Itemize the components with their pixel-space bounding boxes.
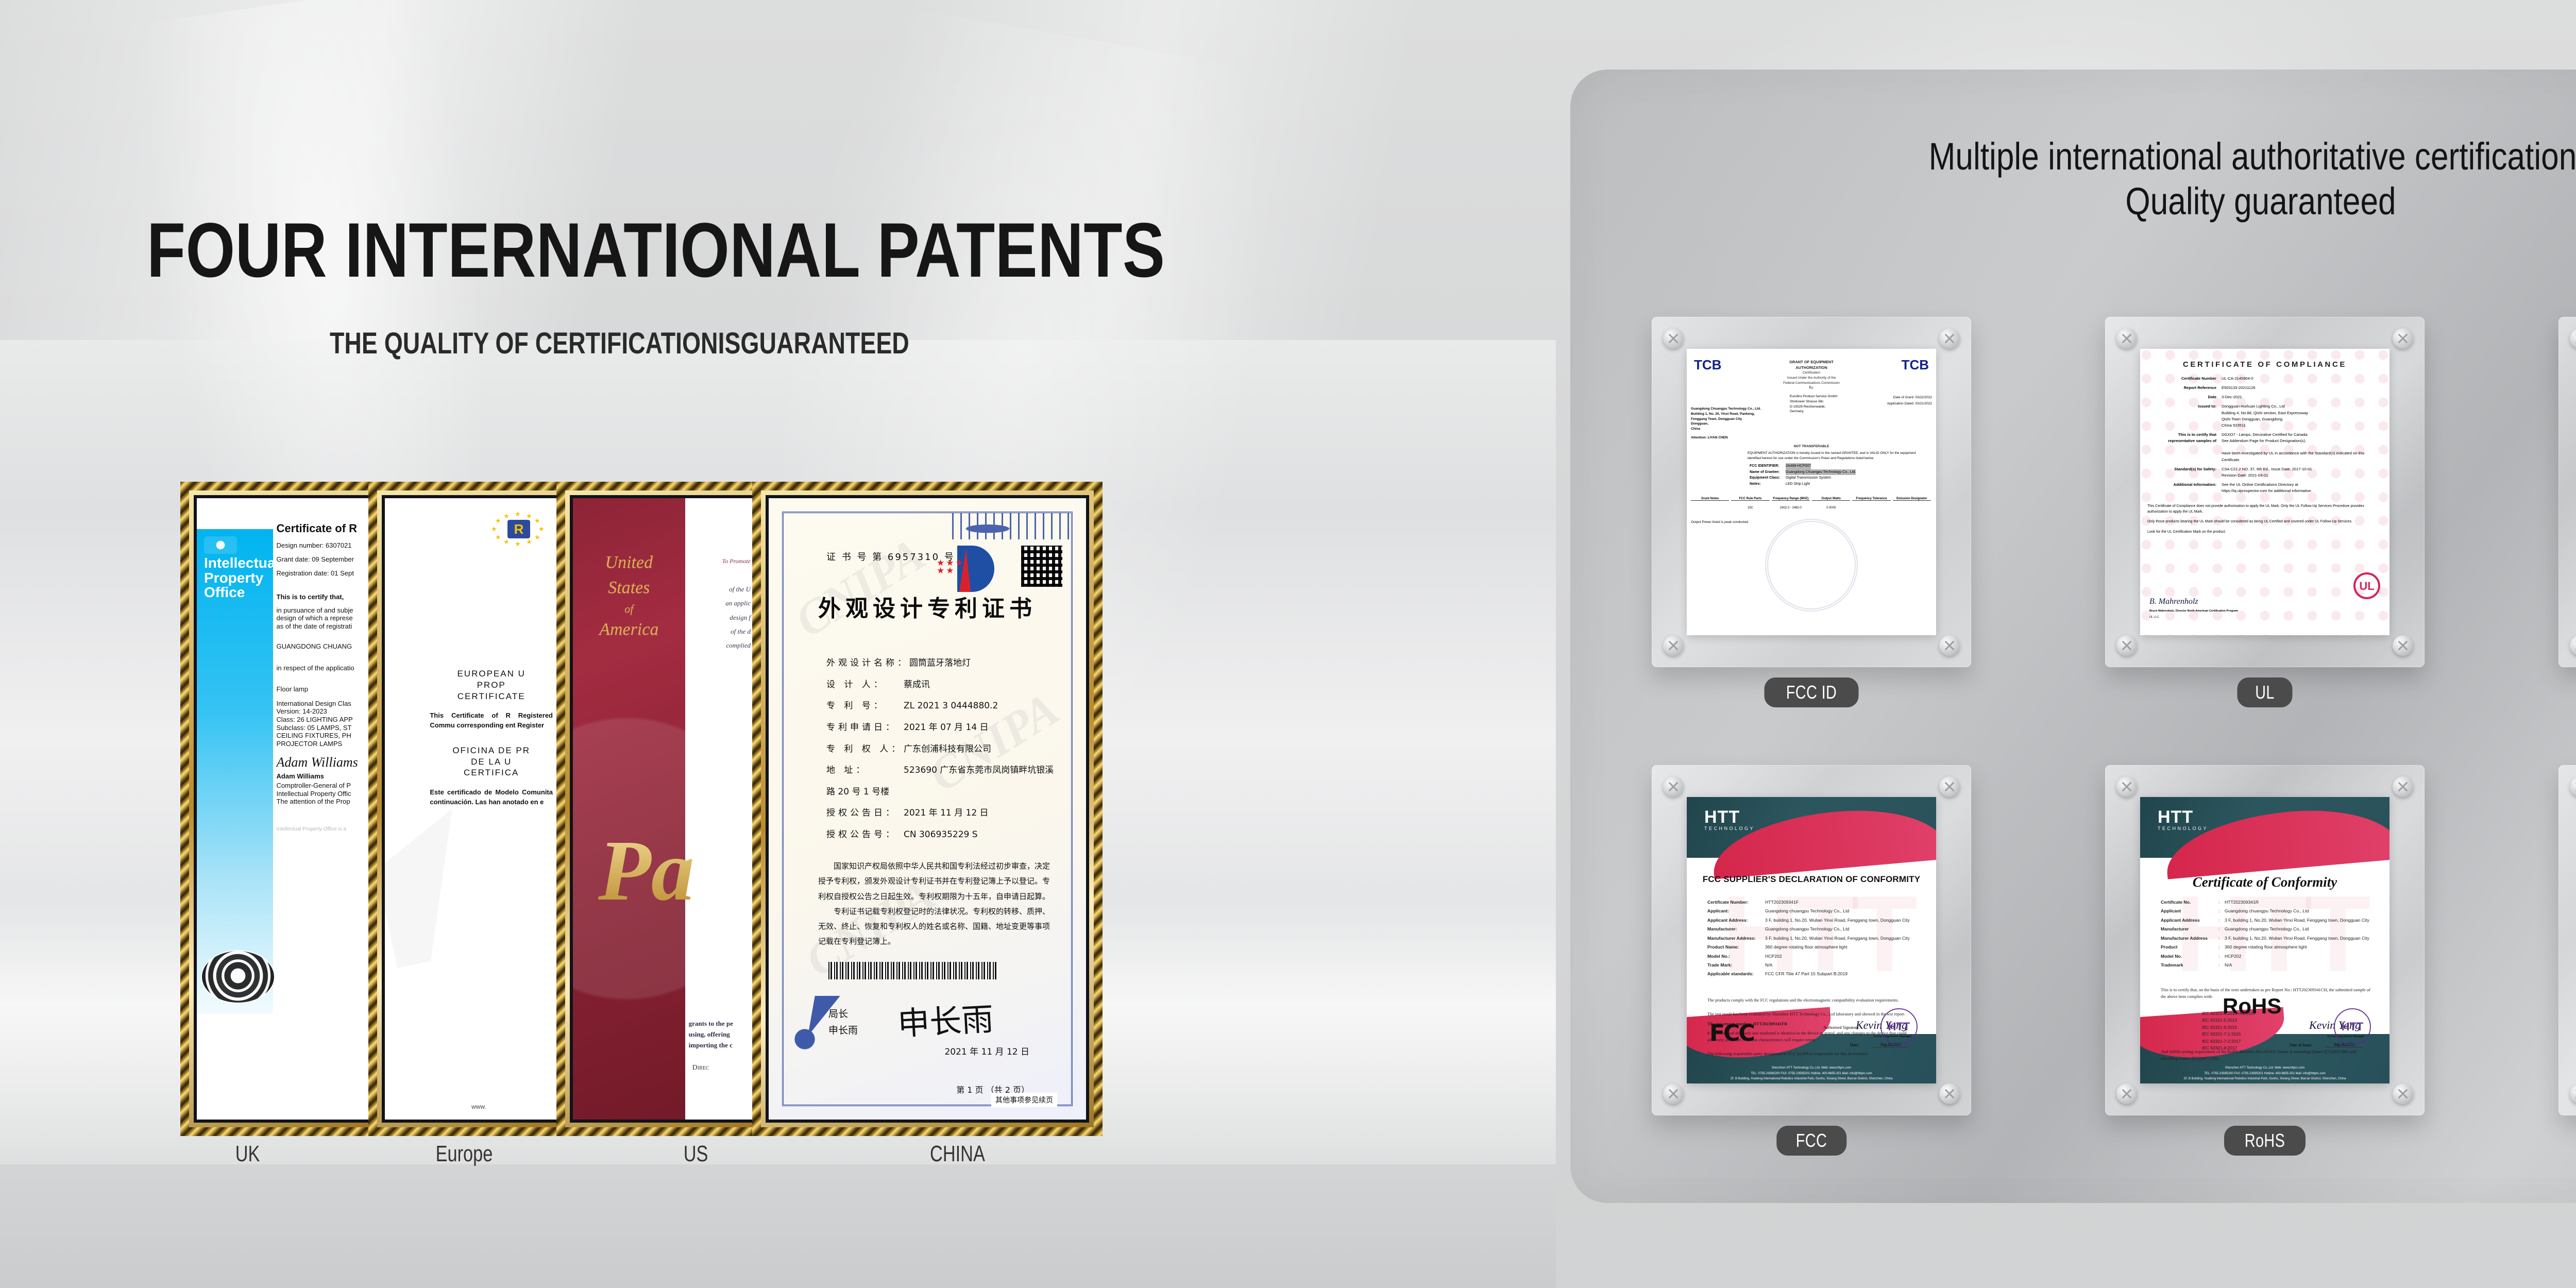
htt-cert-title: FCC SUPPLIER'S DECLARATION OF CONFORMITY: [1687, 874, 1936, 885]
htt-row-value: 360 degree rotating floor atmosphere lig…: [1765, 944, 1848, 951]
ul-row-value: Dongguan Huihuan Lighting Co., Ltd Build…: [2222, 403, 2308, 429]
htt-row: Trade Mark:N/A: [1707, 962, 1921, 969]
htt-row-value: 360 degree rotating floor atmosphere lig…: [2225, 944, 2307, 951]
uk-proprietor: GUANGDONG CHUANG: [277, 641, 366, 652]
us-body-text: of the U an applic design f of the d com…: [689, 582, 751, 652]
cn-field-value: 2021 年 11 月 12 日: [904, 808, 989, 818]
patent-frame-china[interactable]: CNIPA CNIPA CNIPA 证 书 号 第 6957310 号 ★★★★…: [752, 482, 1103, 1136]
htt-row-label: Applicant Address:: [1707, 917, 1765, 924]
authorization-disclaimer: EQUIPMENT AUTHORIZATION is hereby issued…: [1748, 451, 1917, 461]
htt-row-value: HTT202309341R: [2225, 899, 2259, 906]
uk-ipo-banner: Intellectual Property Office: [197, 529, 273, 1014]
htt-cert-title: Certificate of Conformity: [2140, 874, 2389, 890]
standoff-screw-icon: [1663, 635, 1684, 656]
cn-issue-date: 2021 年 11 月 12 日: [944, 1044, 1029, 1057]
ul-paragraphs: This Certificate of Compliance does not …: [2147, 503, 2382, 539]
htt-row-label: Manufacturer:: [1707, 926, 1765, 933]
us-director-label: Direc: [692, 1064, 709, 1072]
cn-field-value: 2021 年 07 月 14 日: [904, 722, 989, 733]
htt-row: Product Name:360 degree rotating floor a…: [1707, 944, 1921, 951]
cn-field-label: 外观设计名称：: [826, 653, 909, 674]
htt-signatory-label: Authorised Signatory:: [1823, 1025, 1860, 1030]
grant-table-cell: [1852, 506, 1890, 510]
cn-field-value: 广东创浦科技有限公司: [904, 744, 991, 754]
cn-field-row: 外观设计名称：圆筒蓝牙落地灯: [826, 653, 1055, 674]
ul-row: Issued to:Dongguan Huihuan Lighting Co.,…: [2161, 403, 2382, 429]
htt-row: Product:360 degree rotating floor atmosp…: [2161, 944, 2374, 951]
htt-row-value: 3 F, building 1, No.20, Wulian Yinxi Roa…: [1765, 935, 1910, 942]
ul-signer-title: Bruce Mahrenholz, Director North America…: [2149, 609, 2238, 613]
cn-field-value: 蔡成讯: [904, 680, 930, 690]
grant-table-header-cell: Output Watts: [1812, 497, 1850, 501]
standoff-screw-icon: [1939, 328, 1960, 349]
htt-row-colon: :: [2218, 908, 2225, 915]
standoff-screw-icon: [2116, 328, 2137, 349]
grant-table-header-cell: Frequency Range (MHZ): [1772, 497, 1810, 501]
htt-row-label: Model No.: [2161, 953, 2218, 960]
eu-title-en: EUROPEAN U PROP CERTIFICATE: [430, 668, 553, 702]
ul-row: Standard(s) for Safety:CSA C22.2 NO. 37,…: [2161, 466, 2382, 479]
cn-qr-code: [1021, 546, 1062, 587]
panel-heading-line2: Quality guaranteed: [1681, 179, 2576, 224]
htt-logo: HTTTECHNOLOGY: [1704, 808, 1755, 831]
attention-line: Attention: LIYAN CHEN: [1691, 435, 1728, 440]
htt-row: Trademark:N/A: [2161, 962, 2374, 969]
certificate-card-fcc-id[interactable]: TCBTCBGRANT OF EQUIPMENT AUTHORIZATIONCe…: [1652, 317, 1971, 724]
uk-product-name: Floor lamp: [277, 684, 366, 694]
grant-table-cell: [1893, 506, 1931, 510]
uk-classification: International Design Clas Version: 14-20…: [277, 700, 366, 748]
standoff-screw-icon: [1939, 635, 1960, 656]
acrylic-mount: HTTHTTTECHNOLOGYCertificate of Conformit…: [2105, 765, 2425, 1115]
conformity-mark-fcc-icon: FCC: [1709, 1020, 1754, 1046]
htt-row: Applicant Address:3 F, building 1, No.20…: [2161, 917, 2374, 924]
htt-row-value: Guangdong chuangpu Technology Co., Ltd: [2225, 926, 2309, 933]
certificate-label-text: UL: [2255, 683, 2275, 702]
htt-row-colon: :: [2218, 935, 2225, 942]
htt-row-label: Applicable standards:: [1707, 971, 1765, 978]
cn-field-label: 授权公告日：: [826, 803, 904, 824]
certificate-label-pill: FCC ID: [1765, 677, 1859, 707]
ul-row-list: Certificate NumberUL-CA-2145904-0Report …: [2161, 376, 2382, 497]
acrylic-mount: CERTIFICATE OF COMPLIANCECertificate Num…: [2105, 317, 2425, 667]
htt-row-value: HTT202309341F: [1765, 899, 1799, 906]
htt-row: Model No.:HCP202: [2161, 953, 2374, 960]
us-promote-line: To Promote: [689, 555, 751, 568]
htt-row-colon: :: [2218, 962, 2225, 969]
us-cover-title: United States of America: [573, 550, 685, 642]
certificate-card-ce[interactable]: HTTHTTTECHNOLOGYCertificate of Conformit…: [2558, 317, 2576, 724]
htt-row: Certificate No.:HTT202309341R: [2161, 899, 2374, 906]
cn-paragraph-1: 国家知识产权局依照中华人民共和国专利法经过初步审查，决定授予专利权，颁发外观设计…: [818, 859, 1057, 904]
certificate-card-fcc[interactable]: HTTHTTTECHNOLOGYFCC SUPPLIER'S DECLARATI…: [1652, 765, 1971, 1172]
standoff-screw-icon: [1939, 776, 1960, 797]
eu-text-column: EUROPEAN U PROP CERTIFICATE This Certifi…: [430, 668, 553, 822]
ul-row: This is to certify that representative s…: [2161, 432, 2382, 463]
cn-signature: 申长雨: [896, 993, 994, 1044]
cn-paragraph-2: 专利证书记载专利权登记时的法律状况。专利权的转移、质押、无效、终止、恢复和专利权…: [818, 904, 1057, 950]
uk-registration-date: Registration date: 01 Sept: [277, 568, 366, 579]
patent-document-cn: CNIPA CNIPA CNIPA 证 书 号 第 6957310 号 ★★★★…: [769, 498, 1086, 1120]
certificate-label-text: FCC: [1796, 1131, 1827, 1150]
htt-logo: HTTTECHNOLOGY: [2158, 808, 2208, 831]
certificate-document-rohs: HTTHTTTECHNOLOGYCertificate of Conformit…: [2140, 797, 2389, 1083]
htt-row: Applicant:Guangdong chuangpu Technology …: [1707, 908, 1921, 915]
cn-continuation-note: 其他事项参见续页: [991, 1093, 1057, 1107]
cn-field-label: 设 计 人：: [826, 674, 904, 696]
uk-signer-title: Comptroller-General of P Intellectual Pr…: [277, 782, 366, 806]
htt-row-value: HCP202: [1765, 953, 1782, 960]
fcc-seal-icon: [1765, 519, 1858, 612]
ul-paragraph: This Certificate of Compliance does not …: [2147, 503, 2382, 515]
ul-row-value: DGXO7 - Lamps, Decorative Certified for …: [2222, 432, 2382, 463]
eu-title-es: OFICINA DE PR DE LA U CERTIFICA: [430, 745, 553, 778]
htt-row-label: Model No.:: [1707, 953, 1765, 960]
standoff-screw-icon: [1939, 1083, 1960, 1104]
cn-field-row: 授权公告日：2021 年 11 月 12 日: [826, 803, 1055, 824]
patent-frame-us[interactable]: United States of America Pa To Promote o…: [556, 482, 770, 1136]
uk-cert-title: Certificate of R: [277, 522, 366, 535]
htt-row-value: HCP202: [2225, 953, 2241, 960]
acrylic-mount: HTTHTTTECHNOLOGYCertificate of Conformit…: [2558, 765, 2576, 1115]
fcc-field-label: Name of Grantee:: [1750, 469, 1786, 476]
cnipa-logo-icon: ★★★★★: [937, 546, 994, 595]
certificate-card-rohs[interactable]: HTTHTTTECHNOLOGYCertificate of Conformit…: [2105, 765, 2425, 1172]
ul-row: Date3-Dec-2021: [2161, 394, 2382, 400]
certificate-label-text: FCC ID: [1786, 683, 1837, 702]
htt-row-list: Certificate No.:HTT202309341RApplicant:G…: [2161, 899, 2374, 971]
ul-row-value: See the UL Online Certifications Directo…: [2222, 482, 2311, 494]
htt-row-label: Applicant Address: [2161, 917, 2218, 924]
htt-footer-contact: Shenzhen HTT Technology Co.,Ltd. Web: ww…: [2140, 1065, 2389, 1081]
cn-ornament-top-right: [952, 513, 1071, 539]
cn-field-row: 设 计 人：蔡成讯: [826, 674, 1055, 696]
uk-patent-office-seal-icon: [202, 951, 274, 1003]
htt-row-colon: :: [2218, 899, 2225, 906]
patent-frames-row: Intellectual Property Office Certificate…: [180, 482, 1108, 1136]
htt-row-colon: :: [2218, 953, 2225, 960]
fcc-id-block: FCC IDENTIFIER:2A468-HCP007Name of Grant…: [1750, 463, 1922, 487]
htt-row: Certificate Number:HTT202309341F: [1707, 899, 1921, 906]
uk-signature: Adam Williams: [277, 755, 366, 770]
htt-row-label: Manufacturer Address: [2161, 935, 2218, 942]
fcc-field-value-equipment-notes: LED Strip Light: [1786, 481, 1810, 487]
htt-row-colon: :: [2218, 917, 2225, 924]
htt-row-label: Certificate Number:: [1707, 899, 1765, 906]
htt-row: Manufacturer:Guangdong chuangpu Technolo…: [1707, 926, 1921, 933]
acrylic-mount: HTTHTTTECHNOLOGYFCC SUPPLIER'S DECLARATI…: [1652, 765, 1971, 1115]
fcc-field-row: Equipment Class:Digital Transmission Sys…: [1750, 475, 1922, 481]
not-transferable: NOT TRANSFERABLE: [1687, 444, 1936, 449]
eu-body-en: This Certificate of R Registered Commu c…: [430, 711, 553, 731]
cn-chief-label: 局长: [828, 1006, 858, 1022]
ul-row-value: 3-Dec-2021: [2222, 394, 2242, 400]
country-label-uk: UK: [235, 1141, 260, 1167]
htt-footer-contact: Shenzhen HTT Technology Co.,Ltd. Web: ww…: [1687, 1065, 1936, 1081]
htt-row-colon: :: [2218, 944, 2225, 951]
grant-table-cell: [1691, 506, 1729, 510]
country-label-china: CHINA: [930, 1141, 985, 1167]
certificate-card-ukca[interactable]: HTTHTTTECHNOLOGYCertificate of Conformit…: [2558, 765, 2576, 1172]
htt-row: Applicant:Guangdong chuangpu Technology …: [2161, 908, 2374, 915]
htt-row-label: Product: [2161, 944, 2218, 951]
cn-certificate-title: 外观设计专利证书: [769, 590, 1086, 623]
ul-row-label: This is to certify that representative s…: [2161, 432, 2222, 463]
uk-grant-date: Grant date: 09 September: [277, 554, 366, 565]
htt-row-value: Guangdong chuangpu Technology Co., Ltd: [2225, 908, 2309, 915]
acrylic-mount: TCBTCBGRANT OF EQUIPMENT AUTHORIZATIONCe…: [1652, 317, 1971, 667]
patent-frame-europe[interactable]: ★ ★ ★ ★ ★ ★ ★ ★ ★ ★ ★ ★ R EUROPEAN U PRO…: [368, 482, 574, 1136]
grant-table-header-cell: FCC Rule Parts: [1731, 497, 1769, 501]
ul-title: CERTIFICATE OF COMPLIANCE: [2140, 360, 2389, 369]
cn-field-label: 授权公告号：: [826, 824, 904, 846]
certificate-label-pill: RoHS: [2224, 1126, 2306, 1156]
uk-pursuance-text: in pursuance of and subje design of whic…: [277, 606, 366, 631]
uk-footer-note: Intellectual Property Office is a: [277, 826, 366, 832]
cn-paragraphs: 国家知识产权局依照中华人民共和国专利法经过初步审查，决定授予专利权，颁发外观设计…: [818, 859, 1057, 950]
page-subtitle: THE QUALITY OF CERTIFICATIONISGUARANTEED: [330, 329, 909, 359]
acrylic-mount: HTTHTTTECHNOLOGYCertificate of Conformit…: [2558, 317, 2576, 667]
htt-row-value: N/A: [1765, 962, 1772, 969]
country-label-us: US: [684, 1141, 708, 1167]
htt-row-value: Guangdong chuangpu Technology Co., Ltd: [1765, 926, 1849, 933]
conformity-mark-rohs-icon: RoHS: [2223, 994, 2281, 1019]
htt-row-value: Guangdong chuangpu Technology Co., Ltd: [1765, 908, 1849, 915]
cn-chief-block: 局长 申长雨: [828, 1006, 858, 1039]
grant-footnote: Output Power listed is peak conducted.: [1691, 520, 1749, 525]
htt-row-value: FCC CFR Title 47 Part 15 Subpart B:2019: [1765, 971, 1848, 978]
htt-row-value: 3 F, building 1, No.20, Wulian Yinxi Roa…: [1765, 917, 1910, 924]
fcc-field-row: FCC IDENTIFIER:2A468-HCP007: [1750, 463, 1922, 469]
grant-table-row: 15C2402.0 - 2480.00.0005: [1691, 506, 1931, 510]
ul-row-label: Date: [2161, 394, 2222, 400]
ul-row-value: CSA C22.2 NO. 37, 6th Ed., Issue Date: 2…: [2222, 466, 2312, 479]
ul-row-label: Additional Information:: [2161, 482, 2222, 494]
ul-certification-mark-icon: UL: [2353, 572, 2380, 599]
standoff-screw-icon: [2393, 635, 2413, 656]
cn-field-value: CN 306935229 S: [904, 829, 978, 840]
grant-table-header-cell: Emission Designator: [1893, 497, 1931, 501]
standoff-screw-icon: [2570, 1083, 2576, 1104]
patent-document-uk: Intellectual Property Office Certificate…: [197, 498, 370, 1120]
ul-row-value: E503133-20211126: [2222, 385, 2256, 391]
htt-row: Model No.:HCP202: [1707, 953, 1921, 960]
eu-body-es: Este certificado de Modelo Comunita cont…: [430, 788, 553, 807]
ul-row-label: Standard(s) for Safety:: [2161, 466, 2222, 479]
test-lab-address: Eurofins Product Service GmbH Storkower …: [1790, 394, 1837, 414]
fcc-field-label: Notes:: [1750, 481, 1786, 487]
ul-row-label: Issued to:: [2161, 403, 2222, 429]
ul-row-value: UL-CA-2145904-0: [2222, 376, 2253, 382]
cn-barcode: [828, 962, 998, 979]
htt-brand: HTT: [2158, 808, 2208, 826]
htt-row: Manufacturer:Guangdong chuangpu Technolo…: [2161, 926, 2374, 933]
fcc-field-value-grantee-name: Guangdong Chuangpu Technology Co., Ltd.: [1786, 469, 1856, 476]
fcc-field-label: FCC IDENTIFIER:: [1750, 463, 1786, 469]
cn-field-row: 专利申请日：2021 年 07 月 14 日: [826, 717, 1055, 739]
ul-row: Report ReferenceE503133-20211126: [2161, 385, 2382, 391]
cn-field-value: 圆筒蓝牙落地灯: [909, 658, 971, 668]
cn-field-list: 外观设计名称：圆筒蓝牙落地灯设 计 人：蔡成讯专 利 号：ZL 2021 3 0…: [826, 653, 1055, 846]
uk-crown-icon: [204, 536, 237, 554]
cn-field-label: 地 址：: [826, 760, 904, 782]
htt-row-label: Applicant: [2161, 908, 2218, 915]
uk-signer-name: Adam Williams: [277, 772, 366, 781]
euipo-logo-icon: ★ ★ ★ ★ ★ ★ ★ ★ ★ ★ ★ ★ R: [488, 513, 550, 546]
htt-row-label: Trade Mark:: [1707, 962, 1765, 969]
htt-row-label: Product Name:: [1707, 944, 1765, 951]
certificate-grid: TCBTCBGRANT OF EQUIPMENT AUTHORIZATIONCe…: [1652, 317, 2576, 1172]
htt-date-label: Date of Issue:: [2290, 1043, 2312, 1047]
certificate-label-pill: FCC: [1776, 1126, 1846, 1156]
htt-date-label: Date:: [1850, 1043, 1859, 1047]
standoff-screw-icon: [2116, 776, 2137, 797]
htt-row: Manufacturer Address:3 F, building 1, No…: [1707, 935, 1921, 942]
certificate-card-ul[interactable]: CERTIFICATE OF COMPLIANCECertificate Num…: [2105, 317, 2425, 724]
cn-field-row: 授权公告号：CN 306935229 S: [826, 824, 1055, 846]
fcc-field-value-fcc-identifier: 2A468-HCP007: [1786, 463, 1811, 469]
fcc-field-label: Equipment Class:: [1750, 475, 1786, 481]
grant-table-header-cell: Grant Notes: [1691, 497, 1729, 501]
htt-row-list: Certificate Number:HTT202309341FApplican…: [1707, 899, 1921, 980]
cn-certificate-number: 证 书 号 第 6957310 号: [826, 550, 955, 563]
htt-brand: HTT: [1704, 808, 1755, 826]
htt-row-label: Applicant:: [1707, 908, 1765, 915]
grantee-address: Guangdong Chuangpu Technology Co., Ltd. …: [1691, 406, 1761, 432]
standoff-screw-icon: [2116, 635, 2137, 656]
htt-row: Manufacturer Address:3 F, building 1, No…: [2161, 935, 2374, 942]
htt-row-label: Manufacturer Address:: [1707, 935, 1765, 942]
htt-row: Applicable standards:FCC CFR Title 47 Pa…: [1707, 971, 1921, 978]
cn-chief-name: 申长雨: [828, 1022, 858, 1039]
cn-field-row: 专 利 号：ZL 2021 3 0444880.2: [826, 696, 1055, 717]
us-right-text: To Promote of the U an applic design f o…: [689, 555, 751, 653]
uk-design-number: Design number: 6307021: [277, 540, 366, 551]
panel-heading: Multiple international authoritative cer…: [1570, 134, 2576, 224]
standoff-screw-icon: [1663, 328, 1684, 349]
certificate-document-fcc: HTTHTTTECHNOLOGYFCC SUPPLIER'S DECLARATI…: [1687, 797, 1936, 1083]
uk-respect-line: in respect of the applicatio: [277, 663, 366, 673]
cn-field-label: 专 利 权 人：: [826, 739, 904, 760]
cn-field-label: 专 利 号：: [826, 696, 904, 717]
country-label-europe: Europe: [436, 1141, 493, 1167]
ul-paragraph: Only those products bearing the UL Mark …: [2147, 519, 2382, 524]
grant-table-header-cell: Frequency Tolerance: [1852, 497, 1890, 501]
htt-row: Applicant Address:3 F, building 1, No.20…: [1707, 917, 1921, 924]
htt-row-label: Certificate No.: [2161, 899, 2218, 906]
htt-row-value: 3 F, building 1, No.20, Wulian Yinxi Roa…: [2225, 917, 2369, 924]
cn-field-value: ZL 2021 3 0444880.2: [904, 701, 998, 711]
ul-signature: B. Mahrenholz: [2149, 597, 2198, 606]
certificate-document-fcc-id: TCBTCBGRANT OF EQUIPMENT AUTHORIZATIONCe…: [1687, 349, 1936, 635]
htt-company-stamp-icon: HTT: [1880, 1008, 1918, 1045]
grant-title: GRANT OF EQUIPMENT AUTHORIZATION: [1687, 359, 1936, 371]
ul-row: Additional Information:See the UL Online…: [2161, 482, 2382, 494]
us-grants-text: grants to the pe using, offering importi…: [689, 1019, 751, 1050]
certificate-label-text: RoHS: [2245, 1131, 2285, 1150]
standoff-screw-icon: [2570, 328, 2576, 349]
htt-row-label: Manufacturer: [2161, 926, 2218, 933]
patents-section: FOUR INTERNATIONAL PATENTS THE QUALITY O…: [0, 0, 1546, 1288]
page-title: FOUR INTERNATIONAL PATENTS: [147, 211, 1165, 289]
htt-company-stamp-icon: HTT: [2334, 1008, 2371, 1045]
uk-office-name: Intellectual Property Office: [204, 556, 279, 600]
standoff-screw-icon: [2393, 776, 2413, 797]
grant-subtitle: Certification Issued Under the Authority…: [1687, 370, 1936, 391]
certificate-document-ul: CERTIFICATE OF COMPLIANCECertificate Num…: [2140, 349, 2389, 635]
ul-row-label: Certificate Number: [2161, 376, 2222, 382]
standoff-screw-icon: [2393, 328, 2413, 349]
htt-row-label: Trademark: [2161, 962, 2218, 969]
patent-document-us: United States of America Pa To Promote o…: [573, 498, 754, 1120]
grant-table-cell: 2402.0 - 2480.0: [1772, 506, 1810, 510]
standoff-screw-icon: [1663, 1083, 1684, 1104]
fcc-field-row: Name of Grantee:Guangdong Chuangpu Techn…: [1750, 469, 1922, 476]
ul-paragraph: Look for the UL Certification Mark on th…: [2147, 529, 2382, 535]
us-patent-script-word: Pa: [598, 821, 694, 921]
cn-field-row: 地 址：523690 广东省东莞市凤岗镇畔坑银溪路 20 号 1 号楼: [826, 760, 1055, 803]
patent-document-eu: ★ ★ ★ ★ ★ ★ ★ ★ ★ ★ ★ ★ R EUROPEAN U PRO…: [385, 498, 558, 1120]
fcc-field-value-equipment-class: Digital Transmission System: [1786, 475, 1831, 481]
htt-brand-sub: TECHNOLOGY: [1704, 826, 1755, 831]
standoff-screw-icon: [2116, 1083, 2137, 1104]
grant-table-headers: Grant NotesFCC Rule PartsFrequency Range…: [1691, 497, 1931, 501]
ul-row: Certificate NumberUL-CA-2145904-0: [2161, 376, 2382, 382]
grant-table-cell: 15C: [1731, 506, 1769, 510]
date-of-grant: Date of Grant: 03/22/2022: [1893, 395, 1932, 400]
application-dated: Application Dated: 03/21/2022: [1887, 401, 1932, 406]
patent-frame-uk[interactable]: Intellectual Property Office Certificate…: [180, 482, 386, 1136]
certifications-panel: Multiple international authoritative cer…: [1570, 70, 2576, 1203]
htt-row-colon: :: [2218, 926, 2225, 933]
htt-statement-2: And fulfills testing requirement of the …: [2161, 1048, 2374, 1062]
grant-table-cell: 0.0005: [1812, 506, 1850, 510]
ul-row-label: Report Reference: [2161, 385, 2222, 391]
panel-heading-line1: Multiple international authoritative cer…: [1681, 134, 2576, 179]
uk-certify-line: This is to certify that,: [277, 592, 366, 602]
standoff-screw-icon: [2570, 635, 2576, 656]
fcc-field-row: Notes:LED Strip Light: [1750, 481, 1922, 487]
certificate-label-pill: UL: [2237, 677, 2292, 707]
standoff-screw-icon: [1663, 776, 1684, 797]
htt-brand-sub: TECHNOLOGY: [2158, 826, 2208, 831]
ul-company: UL LLC: [2149, 616, 2159, 619]
uk-text-column: Certificate of R Design number: 6307021 …: [277, 522, 366, 832]
eu-url: www.: [471, 1103, 486, 1110]
htt-row-value: N/A: [2225, 962, 2232, 969]
htt-row-value: 3 F, building 1, No.20, Wulian Yinxi Roa…: [2225, 935, 2369, 942]
cn-field-label: 专利申请日：: [826, 717, 904, 739]
standoff-screw-icon: [2570, 776, 2576, 797]
standoff-screw-icon: [2393, 1083, 2413, 1104]
cn-field-row: 专 利 权 人：广东创浦科技有限公司: [826, 739, 1055, 760]
